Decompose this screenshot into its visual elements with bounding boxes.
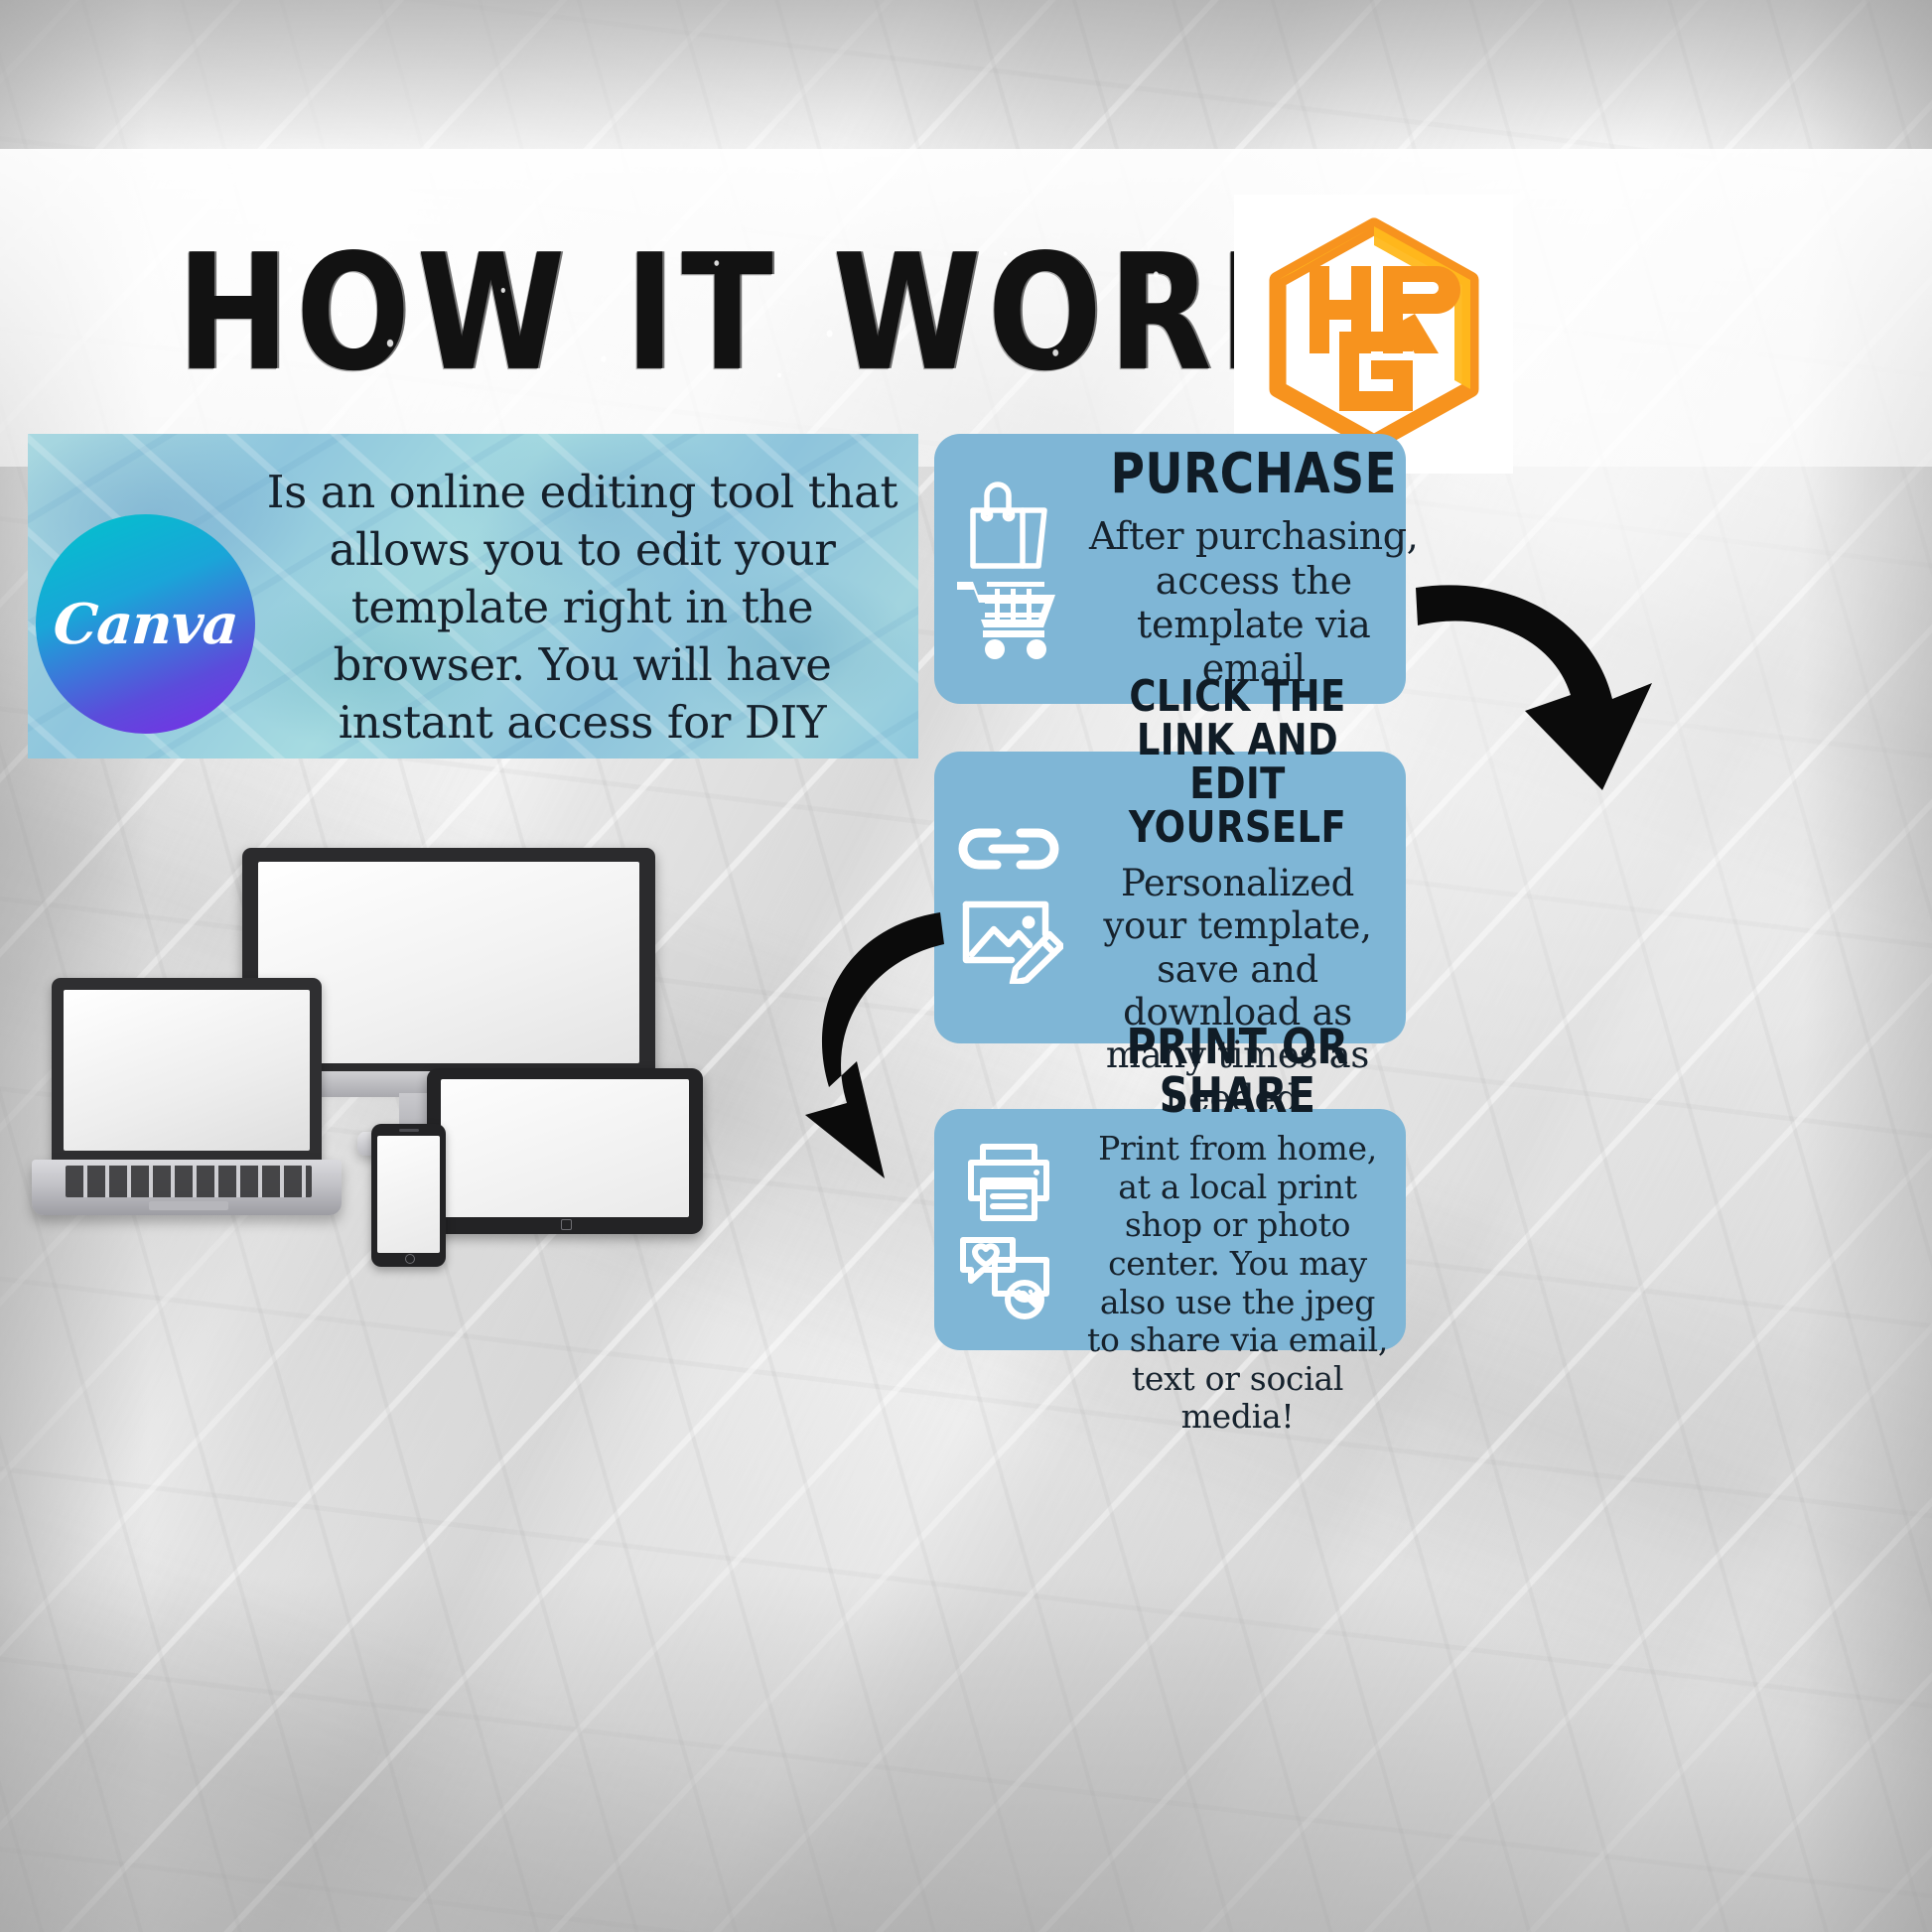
shopping-cart-icon [955,577,1062,660]
arrow-edit-to-print [799,908,948,1191]
click-edit-card-title: CLICK THE LINK AND EDIT YOURSELF [1108,675,1367,850]
purchase-card-description: After purchasing, access the template vi… [1083,514,1425,691]
hrg-cube-icon [1250,210,1498,459]
step-card-click-edit[interactable]: CLICK THE LINK AND EDIT YOURSELF Persona… [934,752,1406,1043]
print-share-card-title: PRINT OR SHARE [1108,1023,1367,1120]
laptop-display [64,990,310,1151]
share-chat-icon [955,1230,1062,1321]
printer-icon [957,1139,1060,1226]
canva-description: Is an online editing tool that allows yo… [262,464,902,759]
print-share-card-description: Print from home, at a local print shop o… [1083,1130,1392,1437]
link-icon [953,811,1064,887]
arrow-purchase-to-edit [1408,580,1666,830]
laptop-keys [66,1166,312,1197]
hrg-logo [1234,195,1513,474]
device-mockup [30,842,814,1259]
image-edit-icon [954,891,1063,984]
tablet-screen [441,1079,689,1217]
canva-logo-label: Canva [51,592,239,657]
tablet-home-button [561,1219,572,1230]
canva-logo: Canva [36,514,255,734]
step-card-purchase[interactable]: PURCHASE After purchasing, access the te… [934,434,1406,704]
phone-screen [377,1136,440,1253]
phone-home-button [405,1254,415,1264]
canva-info-panel: Canva Is an online editing tool that all… [28,434,918,759]
laptop-keyboard [32,1160,342,1215]
shopping-bag-icon [959,478,1058,573]
laptop-trackpad [149,1201,228,1210]
phone-speaker [399,1129,419,1132]
tablet [427,1068,703,1234]
smartphone [371,1124,446,1267]
purchase-icon-group [934,478,1083,660]
step-card-print-share[interactable]: PRINT OR SHARE Print from home, at a loc… [934,1109,1406,1350]
purchase-card-title: PURCHASE [1110,447,1397,502]
purchase-card-body: PURCHASE After purchasing, access the te… [1083,447,1439,691]
print-share-icon-group [934,1139,1083,1321]
click-edit-icon-group [934,811,1083,984]
print-share-card-body: PRINT OR SHARE Print from home, at a loc… [1083,1023,1406,1437]
laptop-screen [52,978,322,1163]
